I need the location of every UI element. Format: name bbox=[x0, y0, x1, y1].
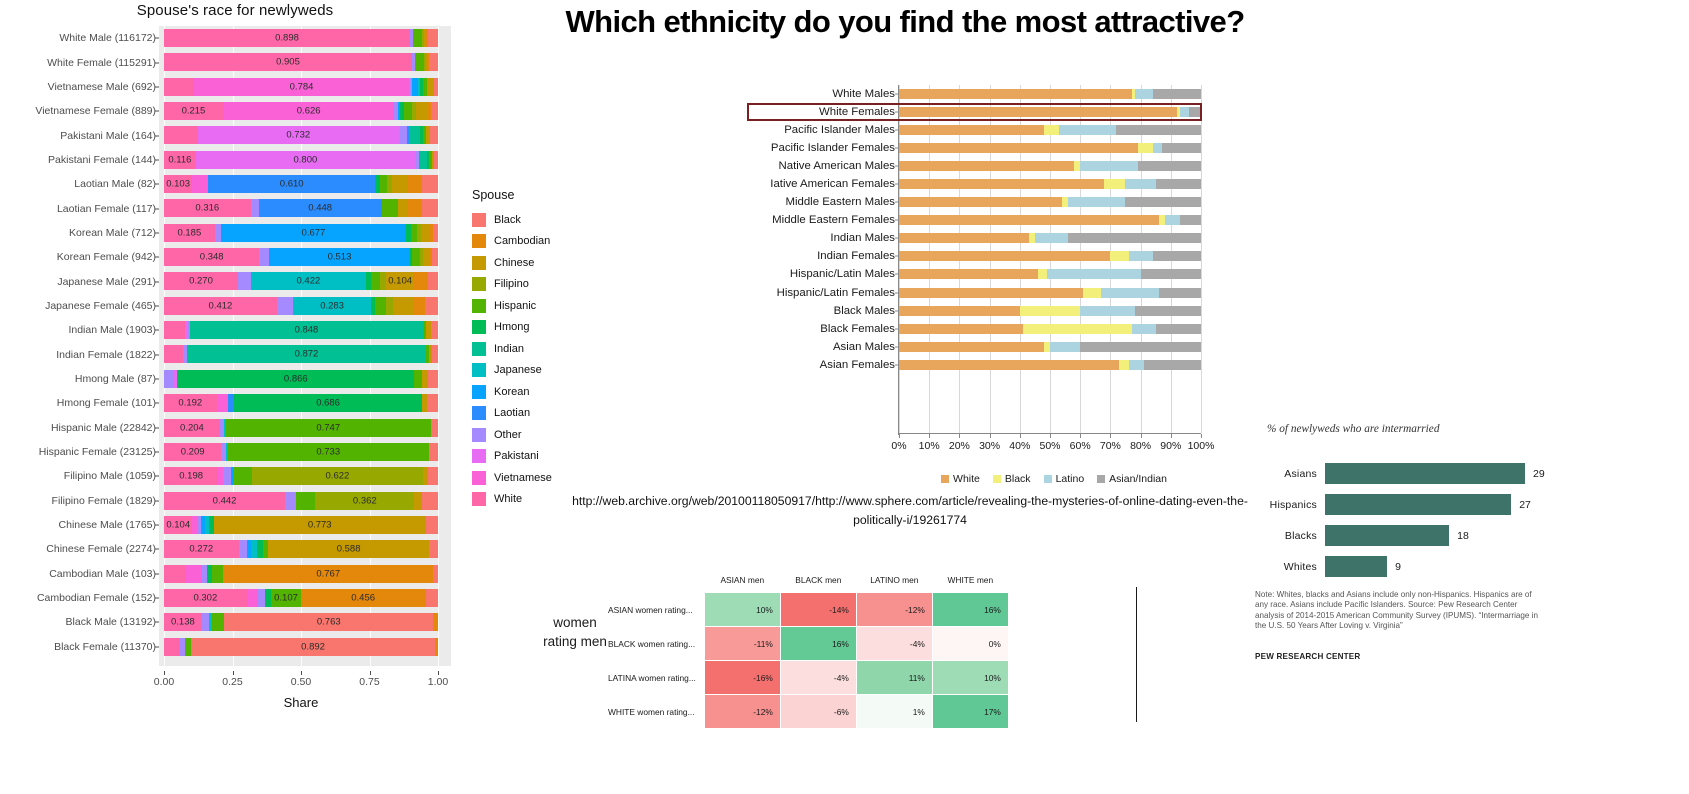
bar-segment bbox=[1110, 251, 1128, 261]
pew-bar-value: 18 bbox=[1457, 530, 1469, 542]
attractiveness-row-label: Middle Eastern Males bbox=[785, 196, 895, 208]
heatmap-side-label-line2: rating men bbox=[530, 632, 620, 651]
x-axis-tick bbox=[1171, 434, 1172, 438]
bar-segment: 0.892 bbox=[191, 638, 435, 656]
attractiveness-bar-row: Indian Males bbox=[560, 229, 1250, 247]
bar-segment bbox=[1159, 288, 1201, 298]
bar-segment bbox=[422, 199, 438, 217]
bar-segment bbox=[164, 345, 183, 363]
segment-value-label: 0.272 bbox=[164, 544, 239, 555]
bar-segment: 0.784 bbox=[194, 78, 409, 96]
bar-segment: 0.588 bbox=[268, 540, 429, 558]
axis-tick bbox=[155, 525, 159, 526]
bar-segment: 0.677 bbox=[221, 224, 406, 242]
legend-swatch bbox=[472, 213, 486, 227]
segment-value-label: 0.767 bbox=[223, 568, 433, 579]
bar-segment: 0.848 bbox=[190, 321, 422, 339]
spouse-bar-row: Vietnamese Male (692)0.784 bbox=[0, 75, 462, 99]
attractiveness-row-label: Pacific Islander Females bbox=[771, 142, 895, 154]
bar-segment bbox=[414, 492, 421, 510]
legend-swatch bbox=[472, 492, 486, 506]
segment-value-label: 0.204 bbox=[164, 422, 220, 433]
source-url-text[interactable]: http://web.archive.org/web/2010011805091… bbox=[570, 492, 1250, 530]
spouse-row-label: Filipino Male (1059) bbox=[64, 470, 156, 482]
spouse-bar-row: Vietnamese Female (889)0.2150.626 bbox=[0, 99, 462, 123]
bar-segment: 0.442 bbox=[164, 492, 285, 510]
segment-value-label: 0.626 bbox=[223, 106, 395, 117]
axis-tick bbox=[155, 549, 159, 550]
bar-segment bbox=[1104, 179, 1125, 189]
bar-segment bbox=[899, 306, 1020, 316]
bar-segment bbox=[434, 78, 438, 96]
bar-segment bbox=[428, 272, 438, 290]
bar-segment bbox=[1135, 89, 1153, 99]
x-axis-tick bbox=[1110, 434, 1111, 438]
legend-swatch bbox=[472, 471, 486, 485]
legend-swatch bbox=[472, 256, 486, 270]
spouse-bar-row: Laotian Male (82)0.1030.610 bbox=[0, 172, 462, 196]
bar-segment bbox=[429, 540, 438, 558]
attractiveness-bar-row: Indian Females bbox=[560, 247, 1250, 265]
stacked-bar bbox=[899, 233, 1201, 243]
bar-segment bbox=[371, 272, 381, 290]
spouse-row-label: Laotian Male (82) bbox=[74, 178, 156, 190]
bar-segment: 0.422 bbox=[251, 272, 367, 290]
bar-segment bbox=[1156, 179, 1201, 189]
segment-value-label: 0.892 bbox=[191, 641, 435, 652]
bar-segment: 0.747 bbox=[226, 419, 431, 437]
segment-value-label: 0.107 bbox=[271, 592, 300, 603]
bar-segment bbox=[1050, 342, 1080, 352]
spouse-row-label: Indian Male (1903) bbox=[68, 324, 156, 336]
legend-swatch bbox=[472, 428, 486, 442]
stacked-bar: 0.1160.800 bbox=[164, 151, 438, 169]
attractiveness-chart-panel: Which ethnicity do you find the most att… bbox=[560, 0, 1250, 540]
spouse-bar-row: Pakistani Female (144)0.1160.800 bbox=[0, 148, 462, 172]
attractiveness-bar-row: Native American Males bbox=[560, 157, 1250, 175]
bar-segment bbox=[428, 370, 438, 388]
heatmap-divider bbox=[1136, 587, 1137, 722]
bar-segment bbox=[399, 126, 408, 144]
axis-tick bbox=[155, 281, 159, 282]
segment-value-label: 0.773 bbox=[214, 519, 426, 530]
heatmap-cell: 17% bbox=[932, 695, 1008, 729]
bar-segment bbox=[1138, 161, 1201, 171]
segment-value-label: 0.686 bbox=[234, 398, 422, 409]
spouse-bar-row: Filipino Female (1829)0.4420.362 bbox=[0, 489, 462, 513]
bar-segment bbox=[1138, 143, 1153, 153]
legend-swatch bbox=[472, 342, 486, 356]
x-axis-tick bbox=[370, 671, 371, 675]
spouse-bar-row: Japanese Male (291)0.2700.4220.104 bbox=[0, 269, 462, 293]
bar-segment bbox=[422, 492, 438, 510]
heatmap-column-header: BLACK men bbox=[780, 575, 856, 593]
segment-value-label: 0.747 bbox=[226, 422, 431, 433]
bar-segment bbox=[164, 321, 185, 339]
segment-value-label: 0.456 bbox=[301, 592, 426, 603]
segment-value-label: 0.198 bbox=[164, 471, 218, 482]
stacked-bar: 0.3160.448 bbox=[164, 199, 438, 217]
bar-segment bbox=[431, 102, 438, 120]
legend-swatch bbox=[472, 320, 486, 334]
heatmap-cell: 10% bbox=[932, 661, 1008, 695]
heatmap-cell: -14% bbox=[780, 593, 856, 627]
spouse-bar-row: Pakistani Male (164)0.732 bbox=[0, 123, 462, 147]
axis-tick bbox=[155, 354, 159, 355]
segment-value-label: 0.800 bbox=[196, 154, 415, 165]
pew-bar bbox=[1325, 463, 1525, 484]
stacked-bar bbox=[899, 143, 1201, 153]
bar-segment bbox=[431, 321, 438, 339]
x-axis-tick-label: 80% bbox=[1130, 440, 1151, 452]
segment-value-label: 0.103 bbox=[164, 179, 192, 190]
legend-item[interactable]: White bbox=[941, 473, 980, 485]
bar-segment: 0.215 bbox=[164, 102, 223, 120]
bar-segment bbox=[1080, 342, 1201, 352]
bar-segment bbox=[899, 215, 1159, 225]
x-axis-tick bbox=[233, 671, 234, 675]
attractiveness-row-label: Hispanic/Latin Males bbox=[790, 268, 895, 280]
bar-segment bbox=[1044, 125, 1059, 135]
legend-label: Japanese bbox=[494, 364, 542, 376]
spouse-row-label: Korean Male (712) bbox=[69, 227, 156, 239]
bar-segment bbox=[398, 199, 408, 217]
heatmap-cell: 0% bbox=[932, 627, 1008, 661]
attractiveness-bar-row: Iative American Females bbox=[560, 175, 1250, 193]
spouse-row-label: Indian Female (1822) bbox=[56, 349, 156, 361]
spouse-bar-row: Cambodian Female (152)0.3020.1070.456 bbox=[0, 586, 462, 610]
segment-value-label: 0.316 bbox=[164, 203, 251, 214]
bar-segment bbox=[1132, 324, 1156, 334]
bar-segment bbox=[414, 370, 422, 388]
bar-segment: 0.866 bbox=[177, 370, 414, 388]
stacked-bar bbox=[899, 342, 1201, 352]
bar-segment bbox=[899, 251, 1110, 261]
attractiveness-bar-row: Hispanic/Latin Females bbox=[560, 284, 1250, 302]
spouse-row-label: Hmong Female (101) bbox=[57, 397, 156, 409]
heatmap-cell: 16% bbox=[932, 593, 1008, 627]
bar-segment bbox=[1156, 324, 1201, 334]
segment-value-label: 0.104 bbox=[386, 276, 414, 287]
x-axis-tick bbox=[301, 671, 302, 675]
bar-segment bbox=[223, 467, 231, 485]
pew-brand-label: PEW RESEARCH CENTER bbox=[1255, 652, 1360, 661]
spouse-row-label: Vietnamese Female (889) bbox=[35, 105, 156, 117]
pew-bar bbox=[1325, 556, 1387, 577]
spouse-row-label: White Female (115291) bbox=[47, 57, 156, 69]
heatmap-row-header: ASIAN women rating... bbox=[608, 593, 704, 627]
bar-segment bbox=[202, 613, 209, 631]
bar-segment bbox=[192, 175, 208, 193]
bar-segment bbox=[258, 589, 265, 607]
attractiveness-row-label: Hispanic/Latin Females bbox=[777, 287, 895, 299]
x-axis-tick-label: 30% bbox=[979, 440, 1000, 452]
pew-note-text: Note: Whites, blacks and Asians include … bbox=[1255, 590, 1545, 632]
x-axis-tick-label: 40% bbox=[1009, 440, 1030, 452]
bar-segment bbox=[426, 589, 438, 607]
bar-segment bbox=[431, 419, 438, 437]
bar-segment bbox=[899, 233, 1029, 243]
bar-segment bbox=[408, 175, 422, 193]
bar-segment bbox=[1035, 233, 1068, 243]
legend-label: Latino bbox=[1056, 473, 1085, 485]
bar-segment bbox=[234, 467, 252, 485]
spouse-row-label: Pakistani Female (144) bbox=[48, 154, 156, 166]
bar-segment bbox=[416, 102, 428, 120]
stacked-bar: 0.905 bbox=[164, 53, 438, 71]
axis-tick bbox=[155, 452, 159, 453]
pew-intermarriage-panel: % of newlyweds who are intermarried Asia… bbox=[1255, 420, 1675, 680]
bar-segment bbox=[899, 143, 1138, 153]
bar-segment: 0.270 bbox=[164, 272, 238, 290]
bar-segment bbox=[212, 613, 225, 631]
bar-segment: 0.905 bbox=[164, 53, 412, 71]
legend-swatch bbox=[472, 299, 486, 313]
legend-item[interactable]: Asian/Indian bbox=[1097, 473, 1167, 485]
attractiveness-row-label: Indian Males bbox=[830, 232, 895, 244]
bar-segment: 0.209 bbox=[164, 443, 221, 461]
spouse-row-label: Black Male (13192) bbox=[66, 616, 156, 628]
bar-segment: 0.104 bbox=[386, 272, 414, 290]
attractiveness-title: Which ethnicity do you find the most att… bbox=[560, 4, 1250, 40]
stacked-bar bbox=[899, 306, 1201, 316]
bar-segment bbox=[421, 224, 429, 242]
x-axis-tick-label: 0.75 bbox=[359, 676, 379, 688]
bar-segment: 0.116 bbox=[164, 151, 196, 169]
heatmap-header-row: ASIAN menBLACK menLATINO menWHITE men bbox=[608, 575, 1008, 593]
stacked-bar: 0.3020.1070.456 bbox=[164, 589, 438, 607]
bar-segment: 0.456 bbox=[301, 589, 426, 607]
bar-segment bbox=[238, 272, 251, 290]
attractiveness-legend: WhiteBlackLatinoAsian/Indian bbox=[899, 473, 1209, 485]
heatmap-cell: -4% bbox=[780, 661, 856, 695]
bar-segment: 0.104 bbox=[164, 516, 192, 534]
stacked-bar bbox=[899, 215, 1201, 225]
spouse-row-label: Japanese Female (465) bbox=[45, 300, 156, 312]
bar-segment bbox=[239, 540, 247, 558]
spouse-bar-row: White Female (115291)0.905 bbox=[0, 50, 462, 74]
segment-value-label: 0.138 bbox=[164, 617, 202, 628]
segment-value-label: 0.185 bbox=[164, 227, 215, 238]
stacked-bar: 0.1030.610 bbox=[164, 175, 438, 193]
attractiveness-bar-row: Asian Females bbox=[560, 356, 1250, 374]
bar-segment bbox=[1059, 125, 1116, 135]
legend-label: Laotian bbox=[494, 407, 530, 419]
heatmap-cell: 1% bbox=[856, 695, 932, 729]
segment-value-label: 0.362 bbox=[315, 495, 414, 506]
segment-value-label: 0.872 bbox=[187, 349, 426, 360]
x-axis-tick bbox=[990, 434, 991, 438]
pew-row-label: Asians bbox=[1255, 468, 1317, 480]
legend-label: Other bbox=[494, 429, 522, 441]
heatmap-table: ASIAN menBLACK menLATINO menWHITE men AS… bbox=[608, 575, 1009, 729]
x-axis-tick-label: 0.50 bbox=[291, 676, 311, 688]
bar-segment: 0.686 bbox=[234, 394, 422, 412]
legend-label: Chinese bbox=[494, 257, 534, 269]
bar-segment bbox=[296, 492, 315, 510]
spouse-row-label: Hispanic Female (23125) bbox=[39, 446, 156, 458]
heatmap-column-header: WHITE men bbox=[932, 575, 1008, 593]
x-axis-tick-label: 50% bbox=[1039, 440, 1060, 452]
stacked-bar: 0.872 bbox=[164, 345, 438, 363]
bar-segment bbox=[413, 297, 425, 315]
segment-value-label: 0.209 bbox=[164, 446, 221, 457]
bar-segment bbox=[380, 175, 387, 193]
bar-segment bbox=[899, 161, 1074, 171]
heatmap-cell: -12% bbox=[856, 593, 932, 627]
stacked-bar bbox=[899, 251, 1201, 261]
bar-segment bbox=[408, 199, 422, 217]
bar-segment bbox=[899, 342, 1044, 352]
bar-segment: 0.362 bbox=[315, 492, 414, 510]
bar-segment bbox=[433, 613, 438, 631]
attractiveness-row-label: Middle Eastern Females bbox=[772, 214, 895, 226]
segment-value-label: 0.610 bbox=[208, 179, 375, 190]
axis-tick bbox=[155, 403, 159, 404]
bar-segment: 0.898 bbox=[164, 29, 410, 47]
axis-tick bbox=[155, 500, 159, 501]
spouse-bar-row: Chinese Female (2274)0.2720.588 bbox=[0, 537, 462, 561]
axis-tick bbox=[155, 305, 159, 306]
bar-segment bbox=[899, 360, 1119, 370]
legend-item[interactable]: Black bbox=[993, 473, 1031, 485]
axis-tick bbox=[155, 573, 159, 574]
attractiveness-row-label: White Males bbox=[832, 88, 895, 100]
spouse-bar-row: Cambodian Male (103)0.767 bbox=[0, 562, 462, 586]
axis-tick bbox=[155, 184, 159, 185]
stacked-bar: 0.1920.686 bbox=[164, 394, 438, 412]
bar-segment bbox=[432, 248, 438, 266]
stacked-bar bbox=[899, 324, 1201, 334]
bar-segment bbox=[899, 324, 1023, 334]
legend-label: Cambodian bbox=[494, 235, 550, 247]
spouse-row-label: Pakistani Male (164) bbox=[60, 130, 156, 142]
legend-item[interactable]: Latino bbox=[1044, 473, 1085, 485]
bar-segment: 0.767 bbox=[223, 565, 433, 583]
segment-value-label: 0.348 bbox=[164, 252, 259, 263]
segment-value-label: 0.442 bbox=[164, 495, 285, 506]
stacked-bar: 0.1380.763 bbox=[164, 613, 438, 631]
pew-bar-row: Blacks18 bbox=[1255, 520, 1555, 551]
axis-tick bbox=[155, 111, 159, 112]
bar-segment bbox=[433, 565, 438, 583]
spouse-bar-row: Korean Male (712)0.1850.677 bbox=[0, 221, 462, 245]
segment-value-label: 0.215 bbox=[164, 106, 223, 117]
spouse-row-label: Chinese Female (2274) bbox=[46, 543, 156, 555]
stacked-bar: 0.892 bbox=[164, 638, 438, 656]
bar-segment bbox=[164, 126, 198, 144]
heatmap-row-header: BLACK women rating... bbox=[608, 627, 704, 661]
pew-chart-title: % of newlyweds who are intermarried bbox=[1267, 423, 1439, 435]
legend-label: Black bbox=[494, 214, 521, 226]
spouse-bar-row: Indian Male (1903)0.848 bbox=[0, 318, 462, 342]
bar-segment: 0.622 bbox=[252, 467, 422, 485]
x-axis-tick-label: 90% bbox=[1160, 440, 1181, 452]
heatmap-row-header: LATINA women rating... bbox=[608, 661, 704, 695]
legend-swatch bbox=[472, 385, 486, 399]
spouse-plot-area: White Male (116172)0.898White Female (11… bbox=[0, 26, 462, 678]
bar-segment bbox=[164, 638, 180, 656]
bar-segment bbox=[415, 53, 424, 71]
axis-tick bbox=[155, 62, 159, 63]
stacked-bar bbox=[899, 269, 1201, 279]
spouse-row-label: Hispanic Male (22842) bbox=[51, 422, 156, 434]
axis-tick bbox=[155, 159, 159, 160]
attractiveness-bar-rows: White MalesWhite FemalesPacific Islander… bbox=[560, 85, 1250, 374]
bar-segment bbox=[1038, 269, 1047, 279]
legend-label: Vietnamese bbox=[494, 472, 552, 484]
bar-segment bbox=[1020, 306, 1080, 316]
spouse-row-label: Black Female (11370) bbox=[54, 641, 156, 653]
bar-segment bbox=[899, 269, 1038, 279]
stacked-bar bbox=[899, 360, 1201, 370]
spouse-row-label: Chinese Male (1765) bbox=[59, 519, 156, 531]
legend-label: Korean bbox=[494, 386, 529, 398]
spouse-bar-rows: White Male (116172)0.898White Female (11… bbox=[0, 26, 462, 666]
bar-segment: 0.773 bbox=[214, 516, 426, 534]
axis-tick bbox=[155, 257, 159, 258]
stacked-bar: 0.866 bbox=[164, 370, 438, 388]
bar-segment bbox=[212, 565, 224, 583]
spouse-row-label: Hmong Male (87) bbox=[75, 373, 156, 385]
axis-tick bbox=[155, 135, 159, 136]
attractiveness-bar-row: Black Males bbox=[560, 302, 1250, 320]
spouse-race-chart-panel: Spouse's race for newlyweds White Male (… bbox=[0, 0, 470, 700]
spouse-bar-row: Hispanic Female (23125)0.2090.733 bbox=[0, 440, 462, 464]
segment-value-label: 0.302 bbox=[164, 592, 247, 603]
stacked-bar bbox=[899, 89, 1201, 99]
spouse-bar-row: Black Male (13192)0.1380.763 bbox=[0, 610, 462, 634]
attractiveness-row-label: Pacific Islander Males bbox=[784, 124, 895, 136]
pew-bar-value: 27 bbox=[1519, 499, 1531, 511]
bar-segment: 0.610 bbox=[208, 175, 375, 193]
pew-row-label: Hispanics bbox=[1255, 499, 1317, 511]
segment-value-label: 0.513 bbox=[269, 252, 410, 263]
x-axis-tick bbox=[1050, 434, 1051, 438]
heatmap-side-label-line1: women bbox=[530, 613, 620, 632]
heatmap-cell: -4% bbox=[856, 627, 932, 661]
segment-value-label: 0.898 bbox=[164, 33, 410, 44]
stacked-bar bbox=[899, 125, 1201, 135]
heatmap-cell: 11% bbox=[856, 661, 932, 695]
heatmap-column-header: ASIAN men bbox=[704, 575, 780, 593]
heatmap-column-header: LATINO men bbox=[856, 575, 932, 593]
spouse-bar-row: Hmong Female (101)0.1920.686 bbox=[0, 391, 462, 415]
legend-swatch bbox=[472, 363, 486, 377]
legend-swatch bbox=[472, 277, 486, 291]
segment-value-label: 0.784 bbox=[194, 81, 409, 92]
bar-segment: 0.732 bbox=[198, 126, 399, 144]
stacked-bar: 0.4420.362 bbox=[164, 492, 438, 510]
segment-value-label: 0.192 bbox=[164, 398, 217, 409]
bar-segment bbox=[899, 125, 1044, 135]
bar-segment bbox=[1153, 89, 1201, 99]
spouse-bar-row: Korean Female (942)0.3480.513 bbox=[0, 245, 462, 269]
x-axis-tick-label: 70% bbox=[1100, 440, 1121, 452]
bar-segment bbox=[1165, 215, 1180, 225]
bar-segment bbox=[899, 179, 1104, 189]
x-axis-tick bbox=[438, 671, 439, 675]
bar-segment bbox=[1068, 197, 1125, 207]
x-axis-tick-label: 20% bbox=[949, 440, 970, 452]
bar-segment bbox=[419, 151, 427, 169]
pew-bar-row: Asians29 bbox=[1255, 458, 1555, 489]
bar-segment bbox=[428, 467, 438, 485]
attractiveness-bar-row: Middle Eastern Males bbox=[560, 193, 1250, 211]
axis-tick bbox=[155, 646, 159, 647]
okcupid-heatmap-panel: women rating men ASIAN menBLACK menLATIN… bbox=[530, 575, 1030, 735]
bar-segment bbox=[164, 565, 186, 583]
